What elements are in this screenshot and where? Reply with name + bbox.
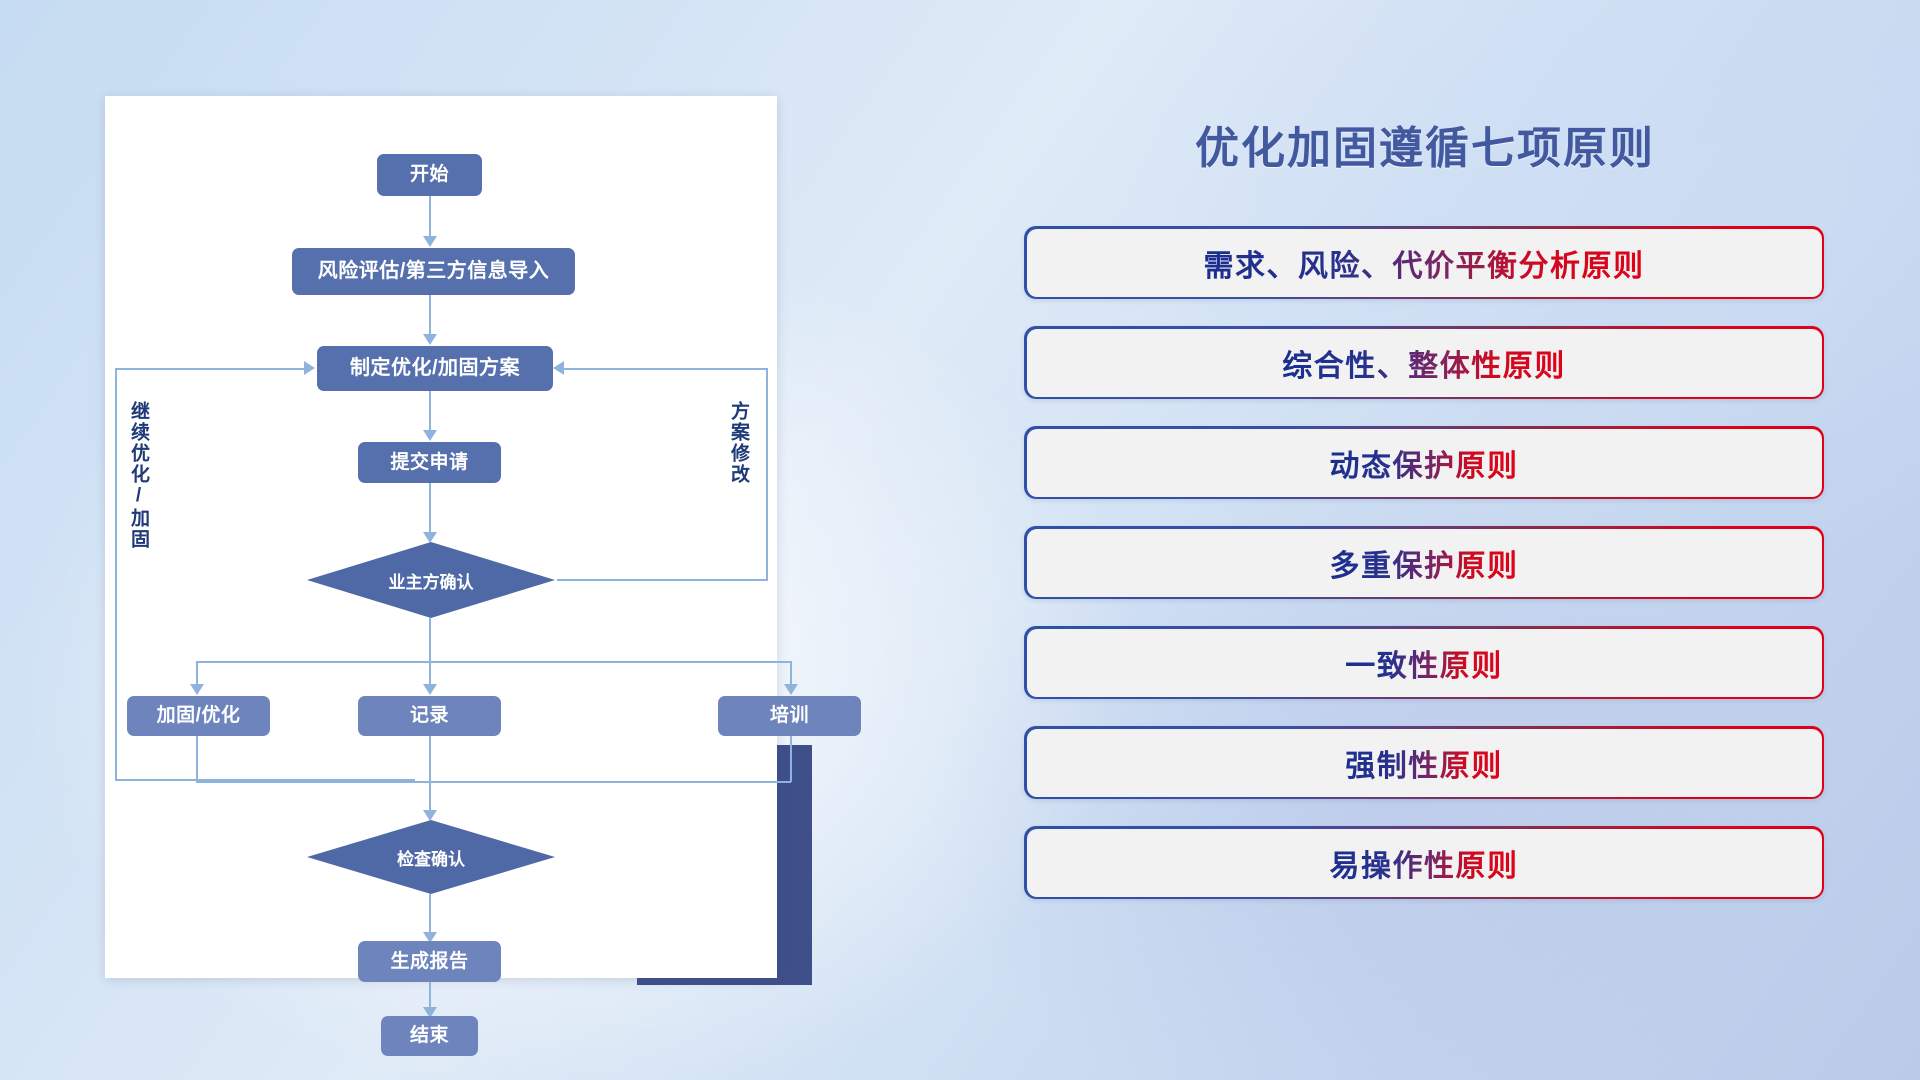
principle-card[interactable]: 需求、风险、代价平衡分析原则	[1024, 226, 1824, 299]
flow-node-generate-report[interactable]: 生成报告	[358, 941, 501, 982]
flow-node-end[interactable]: 结束	[381, 1016, 478, 1056]
principle-label: 综合性、整体性原则	[1282, 341, 1566, 385]
connector-owner-down	[429, 618, 431, 690]
principle-card[interactable]: 强制性原则	[1024, 726, 1824, 799]
principles-panel: 优化加固遵循七项原则 需求、风险、代价平衡分析原则 综合性、整体性原则 动态保护…	[1020, 96, 1830, 996]
connector-submit-to-owner	[429, 483, 431, 539]
arrowhead-submit-to-owner	[423, 532, 437, 543]
flow-edge-label-plan-revision: 方案修改	[729, 401, 748, 485]
principle-label: 一致性原则	[1345, 641, 1503, 685]
flowchart-card: 开始 风险评估/第三方信息导入 制定优化/加固方案 继续优化/加固 方案	[105, 96, 777, 978]
connector-reinforce-down	[196, 736, 198, 782]
flow-decision-inspection-confirm[interactable]: 检查确认	[307, 820, 555, 894]
flow-decision-owner-confirm[interactable]: 业主方确认	[307, 542, 555, 618]
principle-card[interactable]: 多重保护原则	[1024, 526, 1824, 599]
connector-right-loop-vertical	[766, 368, 768, 580]
principles-title: 优化加固遵循七项原则	[1020, 112, 1830, 176]
flow-node-training[interactable]: 培训	[718, 696, 861, 736]
principle-card-body: 需求、风险、代价平衡分析原则	[1027, 229, 1822, 297]
principle-card-body: 动态保护原则	[1027, 429, 1822, 497]
flow-node-risk-assessment[interactable]: 风险评估/第三方信息导入	[292, 248, 575, 295]
flow-edge-label-continue-optimize: 继续优化/加固	[129, 401, 148, 550]
principle-card[interactable]: 一致性原则	[1024, 626, 1824, 699]
arrowhead-plan-to-submit	[423, 430, 437, 441]
flow-node-start[interactable]: 开始	[377, 154, 482, 196]
slide-canvas: 开始 风险评估/第三方信息导入 制定优化/加固方案 继续优化/加固 方案	[0, 0, 1920, 1080]
flow-node-submit-application[interactable]: 提交申请	[358, 442, 501, 483]
principle-label: 多重保护原则	[1330, 541, 1519, 585]
principle-card-body: 强制性原则	[1027, 729, 1822, 797]
connector-merge-bus	[196, 781, 791, 783]
principle-card[interactable]: 动态保护原则	[1024, 426, 1824, 499]
flow-node-record[interactable]: 记录	[358, 696, 501, 736]
arrowhead-branch-right	[784, 684, 798, 695]
principle-label: 需求、风险、代价平衡分析原则	[1204, 241, 1645, 285]
arrowhead-start-to-risk	[423, 236, 437, 247]
flow-node-reinforce-optimize[interactable]: 加固/优化	[127, 696, 270, 736]
principle-card-body: 一致性原则	[1027, 629, 1822, 697]
connector-right-loop-top	[562, 368, 768, 370]
principle-card-body: 多重保护原则	[1027, 529, 1822, 597]
connector-branch-bus	[196, 661, 791, 663]
connector-left-loop-vertical	[115, 368, 117, 780]
arrowhead-right-loop-to-plan	[553, 361, 564, 375]
connector-right-loop-bottom	[557, 579, 768, 581]
connector-left-loop-top	[115, 368, 308, 370]
flow-node-plan[interactable]: 制定优化/加固方案	[317, 346, 553, 391]
principle-card[interactable]: 易操作性原则	[1024, 826, 1824, 899]
principle-label: 易操作性原则	[1330, 841, 1519, 885]
principles-list: 需求、风险、代价平衡分析原则 综合性、整体性原则 动态保护原则 多重保护原则	[1024, 226, 1824, 926]
connector-training-down	[790, 736, 792, 782]
connector-record-to-check	[429, 736, 431, 818]
arrowhead-merge-to-check	[423, 810, 437, 821]
flowchart-diagram: 开始 风险评估/第三方信息导入 制定优化/加固方案 继续优化/加固 方案	[105, 96, 777, 978]
arrowhead-branch-left	[190, 684, 204, 695]
principle-label: 动态保护原则	[1330, 441, 1519, 485]
principle-card-body: 易操作性原则	[1027, 829, 1822, 897]
arrowhead-risk-to-plan	[423, 334, 437, 345]
principle-card[interactable]: 综合性、整体性原则	[1024, 326, 1824, 399]
arrowhead-left-loop-to-plan	[304, 361, 315, 375]
principle-label: 强制性原则	[1345, 741, 1503, 785]
principle-card-body: 综合性、整体性原则	[1027, 329, 1822, 397]
arrowhead-branch-center	[423, 684, 437, 695]
